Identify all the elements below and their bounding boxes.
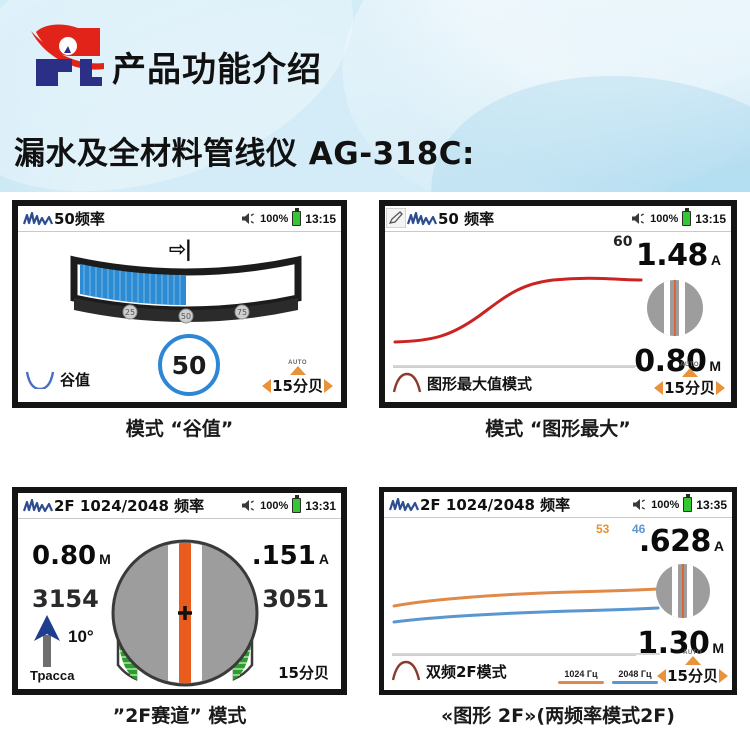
panel-caption: «图形 2F»(两频率模式2F): [379, 701, 737, 728]
current-unit: A: [714, 538, 724, 554]
speaker-icon: [631, 212, 646, 225]
right-arrow-icon[interactable]: [324, 379, 333, 393]
mode-label: 图形最大值模式: [427, 373, 532, 394]
svg-text:25: 25: [125, 308, 135, 317]
gain-value: 15分贝: [664, 377, 715, 398]
panel-caption: 模式 “谷值”: [12, 414, 347, 441]
bar-tick-50: 50: [179, 309, 193, 323]
gain-control[interactable]: AUTO 15分贝: [654, 362, 725, 398]
current-value: 1.48: [636, 238, 708, 273]
depth-value: 0.80: [32, 541, 96, 571]
current-unit: A: [711, 252, 721, 268]
track-label: Трасса: [30, 668, 74, 683]
device-screen-2f-track[interactable]: 2F 1024/2048 频率 100% 13:31 0.80 M: [12, 487, 347, 695]
battery-full-icon: [682, 211, 691, 226]
device-screen-valley[interactable]: 50频率 100% 13:15 ⇨|: [12, 200, 347, 408]
current-value: .628: [639, 524, 711, 559]
left-arrow-icon[interactable]: [654, 381, 663, 395]
current-unit: A: [319, 551, 329, 567]
mode-label: 谷值: [60, 369, 90, 390]
battery-percent: 100%: [651, 499, 679, 511]
clock-label: 13:15: [695, 212, 726, 226]
waveform-icon: [407, 211, 437, 227]
up-arrow-icon[interactable]: [685, 656, 701, 665]
dual-signal-chart: [392, 534, 660, 658]
angle-value: 10°: [68, 627, 94, 647]
battery-percent: 100%: [260, 500, 288, 512]
legend-item-1024: 1024 Гц: [558, 669, 604, 684]
peak-curve-icon: [390, 660, 422, 682]
gauge-stripe-left: [664, 280, 670, 336]
gauge-center-line: [674, 280, 676, 336]
clock-label: 13:31: [305, 499, 336, 513]
company-logo: [28, 22, 106, 92]
north-arrow-icon: [34, 615, 60, 667]
svg-text:50: 50: [181, 312, 191, 321]
mode-label: 双频2F模式: [426, 661, 507, 682]
speaker-icon: [241, 212, 256, 225]
peak-curve-icon: [391, 372, 423, 394]
current-readout: .628 A: [639, 524, 724, 559]
status-right-group: 100% 13:15: [241, 211, 336, 226]
clock-label: 13:15: [305, 212, 336, 226]
device-screen-graph-2f[interactable]: 2F 1024/2048 频率 100% 13:35 53 46: [379, 487, 737, 695]
up-arrow-icon[interactable]: [682, 368, 698, 377]
frequency-label: 50 频率: [438, 208, 494, 229]
status-bar: 2F 1024/2048 频率 100% 13:35: [384, 492, 732, 518]
gain-value: 15分贝: [272, 375, 323, 396]
gain-value: 15分贝: [278, 662, 329, 683]
battery-percent: 100%: [260, 213, 288, 225]
page-title: 产品功能介绍: [112, 42, 322, 91]
panel-graph-max-mode: 50 频率 100% 13:15: [379, 200, 737, 408]
frequency-label: 2F 1024/2048 频率: [54, 495, 204, 516]
up-arrow-icon[interactable]: [290, 366, 306, 375]
bar-tick-75: 75: [235, 305, 249, 319]
status-right-group: 100% 13:31: [241, 498, 336, 513]
signal-chart: [393, 236, 643, 371]
gain-control[interactable]: AUTO 15分贝: [262, 360, 333, 396]
legend-swatch-1024: [558, 681, 604, 684]
pencil-edit-icon[interactable]: [386, 208, 406, 228]
waveform-icon: [23, 498, 53, 514]
gauge-stripe-right: [679, 280, 685, 336]
waveform-icon: [23, 211, 53, 227]
curved-bar-gauge[interactable]: 25 50 75: [70, 254, 302, 324]
product-subtitle: 漏水及全材料管线仪 AG-318C:: [14, 128, 475, 173]
panel-2f-track-mode: 2F 1024/2048 频率 100% 13:31 0.80 M: [12, 487, 347, 695]
track-dial-icon[interactable]: 2048 1024: [90, 533, 280, 693]
right-arrow-icon[interactable]: [716, 381, 725, 395]
slide-root: 产品功能介绍 漏水及全材料管线仪 AG-318C: 50频率 100%: [0, 0, 750, 750]
locator-gauge-icon: [656, 564, 710, 618]
status-bar: 50频率 100% 13:15: [18, 206, 341, 232]
current-readout: 1.48 A: [636, 238, 721, 273]
panel-graph-2f-mode: 2F 1024/2048 频率 100% 13:35 53 46: [379, 487, 737, 695]
legend-swatch-2048: [612, 681, 658, 684]
chart-scale-label: 60: [613, 234, 632, 250]
right-arrow-icon[interactable]: [719, 669, 728, 683]
battery-full-icon: [683, 497, 692, 512]
panel-valley-mode: 50频率 100% 13:15 ⇨|: [12, 200, 347, 408]
status-bar: 50 频率 100% 13:15: [385, 206, 731, 232]
panel-caption: 模式 “图形最大”: [379, 414, 737, 441]
battery-percent: 100%: [650, 213, 678, 225]
slide-header: 产品功能介绍 漏水及全材料管线仪 AG-318C:: [0, 0, 750, 192]
gauge-center-line: [682, 564, 684, 618]
legend-label-2048: 2048 Гц: [618, 669, 651, 679]
bar-tick-25: 25: [123, 305, 137, 319]
speaker-icon: [241, 499, 256, 512]
gain-control[interactable]: AUTO 15分贝: [657, 650, 728, 686]
svg-text:75: 75: [237, 308, 247, 317]
status-bar: 2F 1024/2048 频率 100% 13:31: [18, 493, 341, 519]
battery-full-icon: [292, 498, 301, 513]
speaker-icon: [632, 498, 647, 511]
chart-legend: 1024 Гц 2048 Гц: [558, 669, 658, 684]
waveform-icon: [389, 497, 419, 513]
gauge-stripe-left: [672, 564, 678, 618]
clock-label: 13:35: [696, 498, 727, 512]
left-arrow-icon[interactable]: [262, 379, 271, 393]
legend-label-1024: 1024 Гц: [564, 669, 597, 679]
battery-full-icon: [292, 211, 301, 226]
legend-item-2048: 2048 Гц: [612, 669, 658, 684]
valley-curve-icon: [24, 369, 56, 389]
device-screen-graph-max[interactable]: 50 频率 100% 13:15: [379, 200, 737, 408]
panel-caption: ”2F赛道” 模式: [12, 701, 347, 728]
frequency-label: 2F 1024/2048 频率: [420, 494, 570, 515]
left-count: 3154: [32, 585, 99, 613]
left-arrow-icon[interactable]: [657, 669, 666, 683]
frequency-label: 50频率: [54, 208, 105, 229]
gain-value: 15分贝: [667, 665, 718, 686]
status-right-group: 100% 13:35: [632, 497, 727, 512]
gauge-stripe-right: [687, 564, 693, 618]
locator-gauge-icon: [647, 280, 703, 336]
status-right-group: 100% 13:15: [631, 211, 726, 226]
